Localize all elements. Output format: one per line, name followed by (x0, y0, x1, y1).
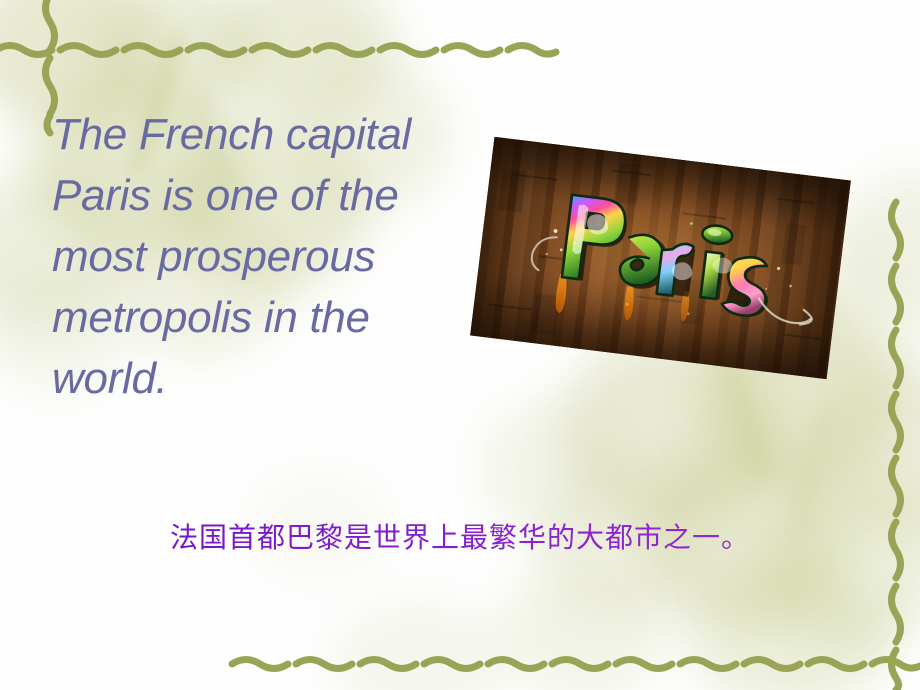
paris-graffiti-lettering (470, 137, 851, 379)
vine-horizontal-bottom (228, 644, 920, 684)
english-heading: The French capital Paris is one of the m… (52, 104, 492, 409)
paris-photo (470, 137, 851, 379)
chinese-translation: 法国首都巴黎是世界上最繁华的大都市之一。 (0, 518, 920, 558)
vine-vertical-right (876, 198, 916, 690)
vine-horizontal-top (0, 30, 564, 70)
paris-photo-wood-background (470, 137, 851, 379)
slide-canvas: The French capital Paris is one of the m… (0, 0, 920, 690)
